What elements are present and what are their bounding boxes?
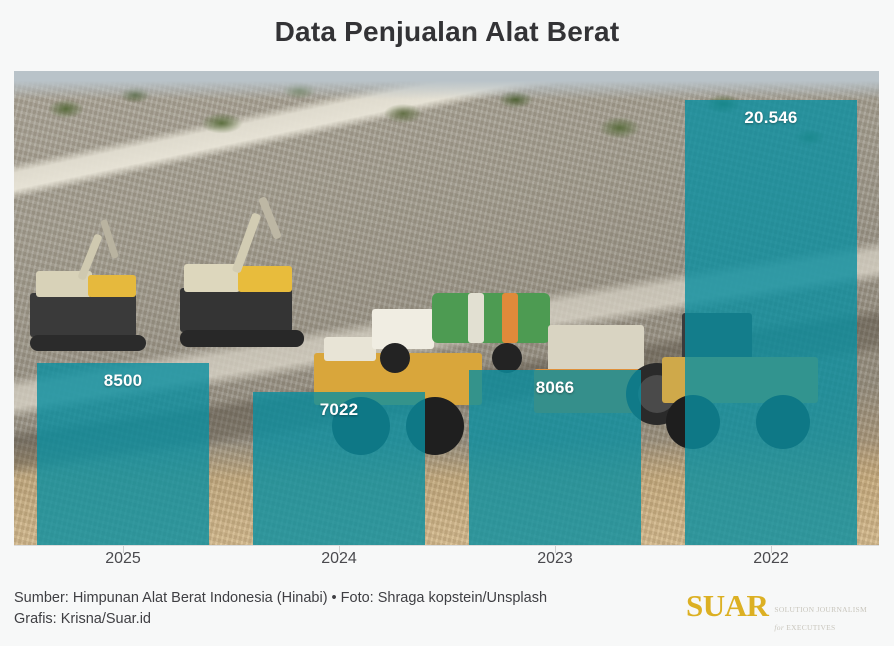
axis-label-2022: 2022 xyxy=(711,550,831,568)
infographic-root: Data Penjualan Alat Berat xyxy=(0,0,894,646)
bar-value-2023: 8066 xyxy=(469,378,641,398)
logo-tagline: SOLUTION JOURNALISM for EXECUTIVES xyxy=(774,596,867,641)
axis-label-2023: 2023 xyxy=(495,550,615,568)
page-title: Data Penjualan Alat Berat xyxy=(0,14,894,50)
bar-2022[interactable]: 20.546 xyxy=(685,100,857,545)
bar-value-2024: 7022 xyxy=(253,400,425,420)
bar-value-2025: 8500 xyxy=(37,371,209,391)
logo-wordmark: SUAR xyxy=(686,590,768,622)
axis-label-2024: 2024 xyxy=(279,550,399,568)
bar-2024[interactable]: 7022 xyxy=(253,392,425,545)
suar-logo: SUAR SOLUTION JOURNALISM for EXECUTIVES xyxy=(686,590,867,641)
chart-plot-area: 8500 7022 8066 20.546 xyxy=(14,71,879,545)
logo-tagline-line1: SOLUTION JOURNALISM xyxy=(774,605,867,614)
bar-2025[interactable]: 8500 xyxy=(37,363,209,545)
axis-label-2025: 2025 xyxy=(63,550,183,568)
footer: Sumber: Himpunan Alat Berat Indonesia (H… xyxy=(14,586,879,638)
bar-2023[interactable]: 8066 xyxy=(469,370,641,545)
logo-tagline-italic: for xyxy=(774,623,784,632)
x-axis-line xyxy=(14,545,879,546)
bar-value-2022: 20.546 xyxy=(685,108,857,128)
source-credit-text: Sumber: Himpunan Alat Berat Indonesia (H… xyxy=(14,588,547,630)
logo-tagline-line2: EXECUTIVES xyxy=(786,623,835,632)
